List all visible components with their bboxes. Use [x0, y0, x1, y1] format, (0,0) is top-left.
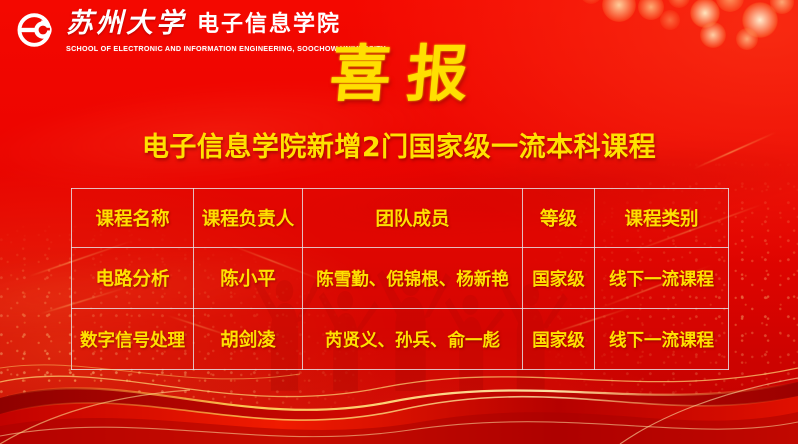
- column-header-level: 等级: [523, 189, 595, 248]
- red-silk-ribbon: [0, 352, 798, 444]
- column-header-team-members: 团队成员: [303, 189, 523, 248]
- cell-category: 线下一流课程: [595, 248, 729, 309]
- cell-team-members: 陈雪勤、倪锦根、杨新艳: [303, 248, 523, 309]
- table-header-row: 课程名称 课程负责人 团队成员 等级 课程类别: [72, 189, 729, 248]
- cell-course-leader: 陈小平: [194, 248, 303, 309]
- table-row: 电路分析 陈小平 陈雪勤、倪锦根、杨新艳 国家级 线下一流课程: [72, 248, 729, 309]
- column-header-course-name: 课程名称: [72, 189, 194, 248]
- cell-level: 国家级: [523, 248, 595, 309]
- page-title: 喜报: [0, 44, 798, 105]
- poster-canvas: 苏州大学 电子信息学院 SCHOOL OF ELECTRONIC AND INF…: [0, 0, 798, 444]
- page-subtitle: 电子信息学院新增2门国家级一流本科课程: [0, 133, 798, 163]
- cell-course-name: 电路分析: [72, 248, 194, 309]
- column-header-category: 课程类别: [595, 189, 729, 248]
- course-table-wrapper: 课程名称 课程负责人 团队成员 等级 课程类别 电路分析 陈小平 陈雪勤、倪锦根…: [71, 188, 728, 370]
- course-table: 课程名称 课程负责人 团队成员 等级 课程类别 电路分析 陈小平 陈雪勤、倪锦根…: [71, 188, 729, 370]
- university-name-cn: 苏州大学: [66, 10, 186, 37]
- school-name-cn: 电子信息学院: [197, 14, 341, 37]
- column-header-course-leader: 课程负责人: [194, 189, 303, 248]
